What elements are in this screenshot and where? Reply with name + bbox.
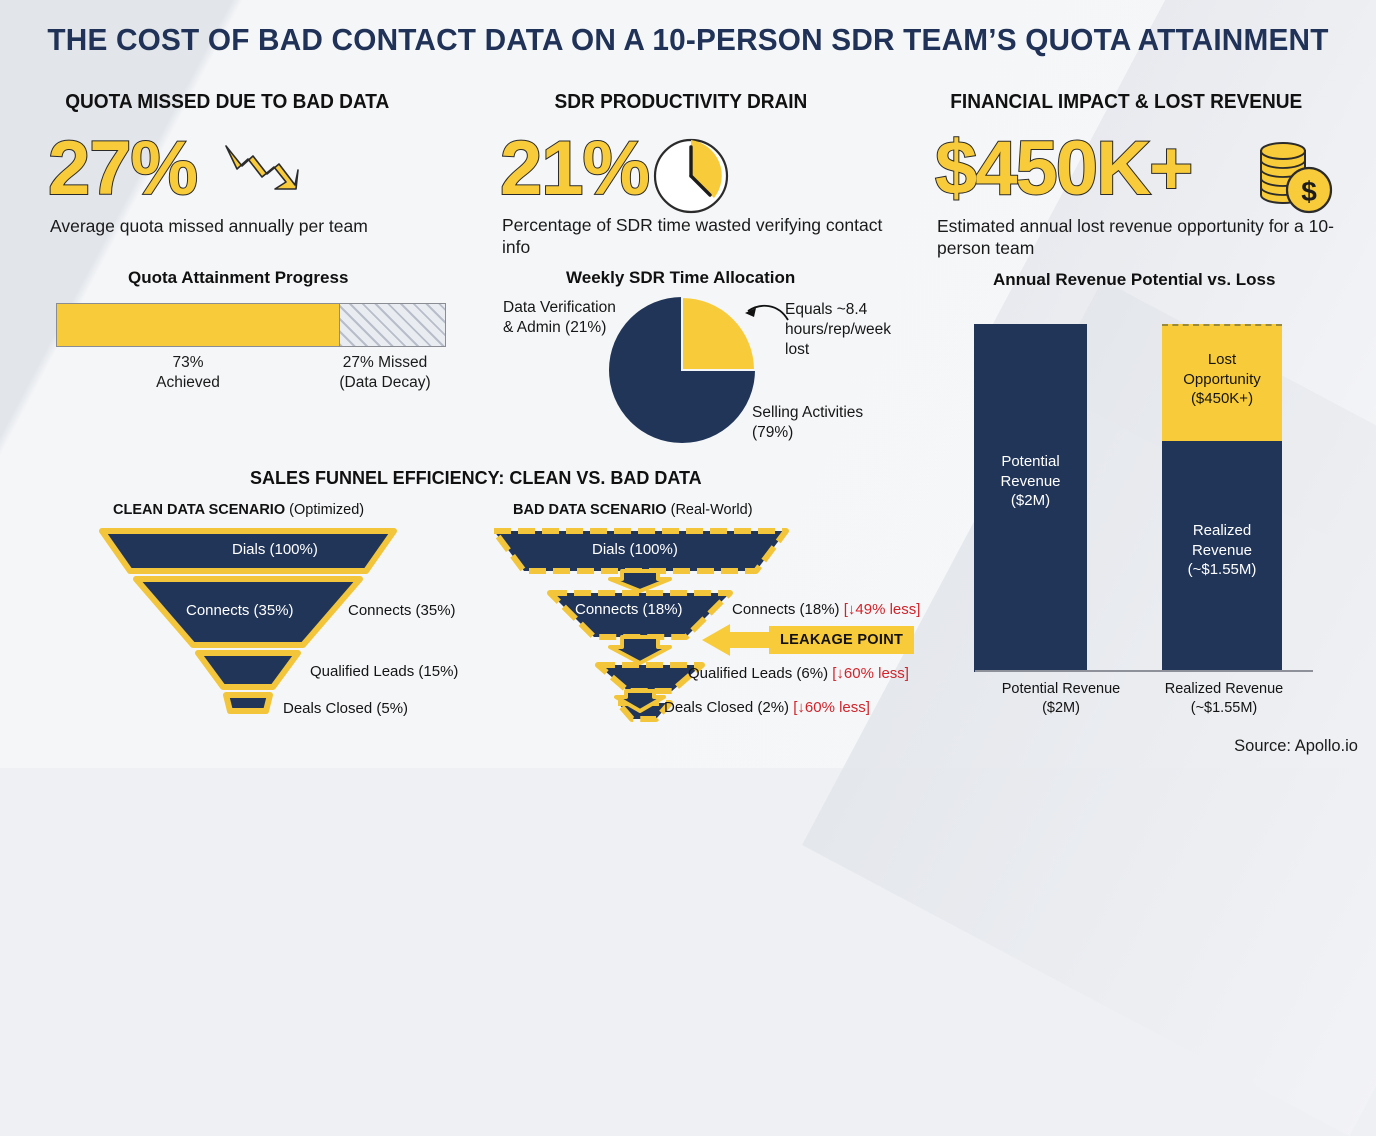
down-trend-arrow-icon bbox=[222, 140, 300, 201]
chart-title-time-allocation: Weekly SDR Time Allocation bbox=[566, 268, 795, 288]
leakage-point-callout: LEAKAGE POINT bbox=[700, 626, 914, 654]
clean-funnel-inside-label-dials: Dials (100%) bbox=[232, 541, 318, 558]
bar-chart-x-axis bbox=[975, 670, 1313, 672]
funnel-section-title: SALES FUNNEL EFFICIENCY: CLEAN VS. BAD D… bbox=[250, 468, 702, 489]
progress-achieved-label: 73% Achieved bbox=[128, 353, 248, 393]
progress-missed-label: 27% Missed (Data Decay) bbox=[320, 353, 450, 393]
leak-arrow-2-icon bbox=[610, 637, 670, 663]
chart-title-revenue: Annual Revenue Potential vs. Loss bbox=[993, 270, 1275, 290]
chart-title-quota-progress: Quota Attainment Progress bbox=[128, 268, 348, 288]
bar-label-realized: Realized Revenue (~$1.55M) bbox=[1162, 521, 1282, 580]
clean-funnel-label-qualified: Qualified Leads (15%) bbox=[310, 663, 458, 680]
revenue-bar-chart: Potential Revenue ($2M) Lost Opportunity… bbox=[960, 322, 1320, 672]
bar-realized-revenue: Lost Opportunity ($450K+) Realized Reven… bbox=[1162, 324, 1282, 672]
bad-scenario-title: BAD DATA SCENARIO (Real-World) bbox=[513, 502, 753, 518]
bad-funnel-label-deals: Deals Closed (2%) [↓60% less] bbox=[664, 699, 870, 716]
svg-text:$: $ bbox=[1301, 176, 1317, 207]
bad-funnel-label-connects: Connects (18%) [↓49% less] bbox=[732, 601, 920, 618]
bar-segment-lost-opportunity: Lost Opportunity ($450K+) bbox=[1162, 324, 1282, 441]
clean-funnel-inside-label-connects: Connects (35%) bbox=[186, 602, 294, 619]
section-header-productivity-drain: SDR PRODUCTIVITY DRAIN bbox=[555, 90, 808, 114]
clean-funnel-label-connects: Connects (35%) bbox=[348, 602, 456, 619]
coin-stack-icon: $ bbox=[1247, 135, 1335, 222]
section-header-quota-missed: QUOTA MISSED DUE TO BAD DATA bbox=[65, 90, 389, 114]
caption-lost-revenue: Estimated annual lost revenue opportunit… bbox=[937, 215, 1347, 260]
quota-progress-bar bbox=[56, 303, 446, 347]
x-tick-potential-revenue: Potential Revenue ($2M) bbox=[980, 680, 1142, 718]
bad-funnel-inside-label-connects: Connects (18%) bbox=[575, 601, 683, 618]
bad-funnel-label-qualified: Qualified Leads (6%) [↓60% less] bbox=[688, 665, 909, 682]
funnel-stage-qualified bbox=[198, 653, 298, 687]
progress-achieved-segment bbox=[57, 304, 340, 346]
bar-label-potential: Potential Revenue ($2M) bbox=[974, 452, 1087, 511]
bar-label-lost-opportunity: Lost Opportunity ($450K+) bbox=[1162, 350, 1282, 409]
x-tick-realized-revenue: Realized Revenue (~$1.55M) bbox=[1143, 680, 1305, 718]
pie-annotation-hours-lost: Equals ~8.4 hours/rep/week lost bbox=[785, 300, 900, 359]
clean-funnel-label-deals: Deals Closed (5%) bbox=[283, 700, 408, 717]
clean-scenario-title: CLEAN DATA SCENARIO (Optimized) bbox=[113, 502, 364, 518]
clock-icon bbox=[650, 135, 732, 222]
bad-funnel-inside-label-dials: Dials (100%) bbox=[592, 541, 678, 558]
page-title: THE COST OF BAD CONTACT DATA ON A 10-PER… bbox=[28, 22, 1349, 58]
progress-missed-segment bbox=[340, 304, 445, 346]
leakage-point-label: LEAKAGE POINT bbox=[769, 626, 914, 654]
pie-label-data-verification: Data Verification & Admin (21%) bbox=[503, 298, 638, 338]
caption-quota-missed: Average quota missed annually per team bbox=[50, 215, 470, 237]
section-header-financial-impact: FINANCIAL IMPACT & LOST REVENUE bbox=[950, 90, 1302, 114]
bar-segment-realized-revenue: Realized Revenue (~$1.55M) bbox=[1162, 441, 1282, 672]
stat-productivity-drain: 21% bbox=[500, 131, 649, 207]
stat-lost-revenue: $450K+ bbox=[935, 131, 1191, 207]
bad-funnel-stage-qualified bbox=[598, 665, 702, 691]
bar-potential-revenue: Potential Revenue ($2M) bbox=[974, 324, 1087, 672]
funnel-stage-deals bbox=[226, 695, 270, 711]
caption-productivity-drain: Percentage of SDR time wasted verifying … bbox=[502, 214, 902, 259]
leakage-arrow-icon bbox=[700, 621, 770, 659]
stat-quota-missed: 27% bbox=[48, 131, 197, 207]
pie-label-selling-activities: Selling Activities (79%) bbox=[752, 403, 902, 443]
source-attribution: Source: Apollo.io bbox=[1234, 737, 1358, 756]
annotation-arrow-icon bbox=[742, 300, 790, 335]
